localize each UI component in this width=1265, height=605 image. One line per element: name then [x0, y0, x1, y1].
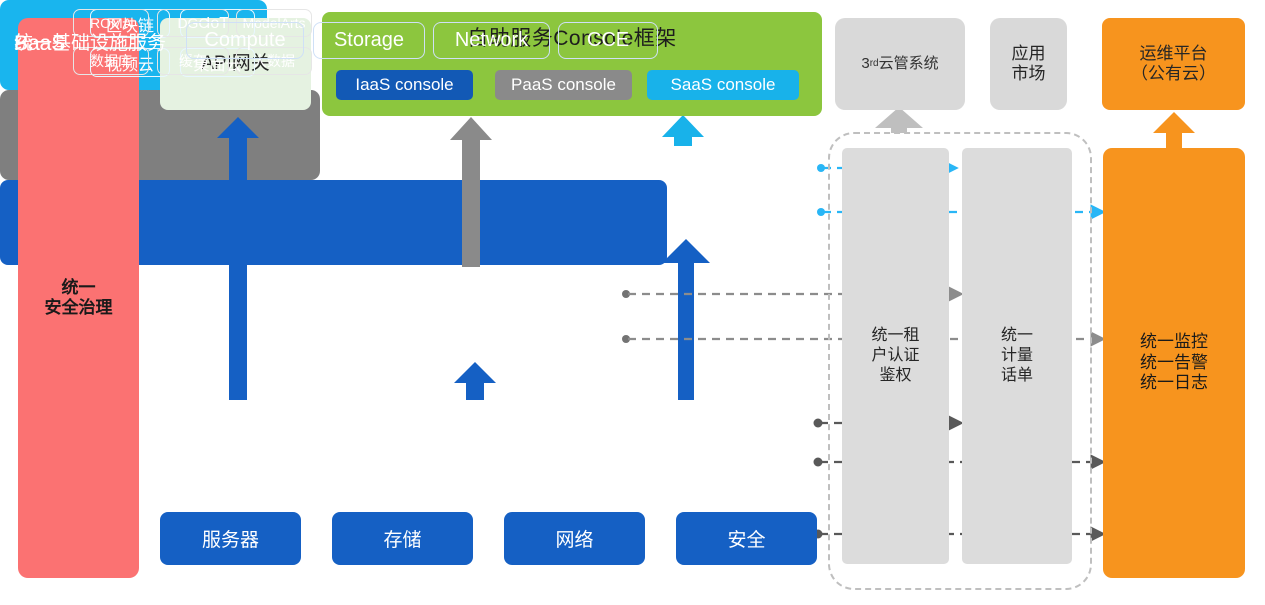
saas-console-chip[interactable]: SaaS console	[647, 70, 799, 100]
hardware-label: 服务器	[202, 525, 259, 552]
iaas-console-label: IaaS console	[355, 75, 453, 95]
architecture-diagram: 统一 安全治理 API网关 自助服务Console框架 IaaS console…	[0, 0, 1265, 605]
infra-service-cce[interactable]: CCE	[558, 22, 658, 59]
unified-metering-billing-column[interactable]: 统一 计量 话单	[962, 148, 1072, 564]
third-party-cloud-mgmt-box[interactable]: 3rd云管系统	[835, 18, 965, 110]
hardware-label: 安全	[727, 525, 765, 552]
hardware-label: 网络	[555, 525, 593, 552]
solid-arrow-saas-to-console	[662, 115, 704, 146]
solid-arrow-infra-to-paas	[454, 362, 496, 400]
third-party-ordinal-suffix: rd	[870, 58, 879, 70]
solid-arrow-platform-to-third-party	[875, 107, 923, 133]
hardware-storage-box[interactable]: 存储	[332, 512, 473, 565]
security-governance-label: 统一 安全治理	[45, 278, 113, 319]
unified-metering-billing-label: 统一 计量 话单	[1001, 326, 1033, 386]
unified-monitoring-panel[interactable]: 统一监控 统一告警 统一日志	[1103, 148, 1245, 578]
paas-console-label: PaaS console	[511, 75, 616, 95]
solid-arrow-infra-to-saas	[662, 239, 710, 400]
infra-service-label: Storage	[334, 29, 404, 52]
infra-service-label: Compute	[204, 29, 285, 52]
app-market-box[interactable]: 应用 市场	[990, 18, 1067, 110]
infra-service-compute[interactable]: Compute	[186, 22, 304, 59]
third-party-label: 云管系统	[879, 55, 939, 73]
unified-infrastructure-label: 统一基础设施服务	[14, 28, 166, 55]
third-party-prefix: 3	[861, 55, 869, 73]
infra-service-network[interactable]: Network	[433, 22, 550, 59]
hardware-server-box[interactable]: 服务器	[160, 512, 301, 565]
unified-tenant-auth-column[interactable]: 统一租 户认证 鉴权	[842, 148, 949, 564]
unified-monitoring-label: 统一监控 统一告警 统一日志	[1140, 332, 1208, 393]
infra-service-storage[interactable]: Storage	[313, 22, 425, 59]
hardware-network-box[interactable]: 网络	[504, 512, 645, 565]
infra-service-label: CCE	[587, 29, 629, 52]
infra-service-label: Network	[455, 29, 528, 52]
hardware-label: 存储	[383, 525, 421, 552]
ops-platform-public-cloud-box[interactable]: 运维平台 （公有云）	[1102, 18, 1245, 110]
unified-tenant-auth-label: 统一租 户认证 鉴权	[871, 326, 919, 386]
hardware-security-box[interactable]: 安全	[676, 512, 817, 565]
solid-arrow-platform-to-ops-platform	[1153, 112, 1195, 148]
ops-platform-public-cloud-label: 运维平台 （公有云）	[1131, 44, 1216, 85]
paas-console-chip[interactable]: PaaS console	[495, 70, 632, 100]
iaas-console-chip[interactable]: IaaS console	[336, 70, 473, 100]
security-governance-panel[interactable]: 统一 安全治理	[18, 18, 139, 578]
app-market-label: 应用 市场	[1012, 44, 1046, 85]
saas-console-label: SaaS console	[671, 75, 776, 95]
